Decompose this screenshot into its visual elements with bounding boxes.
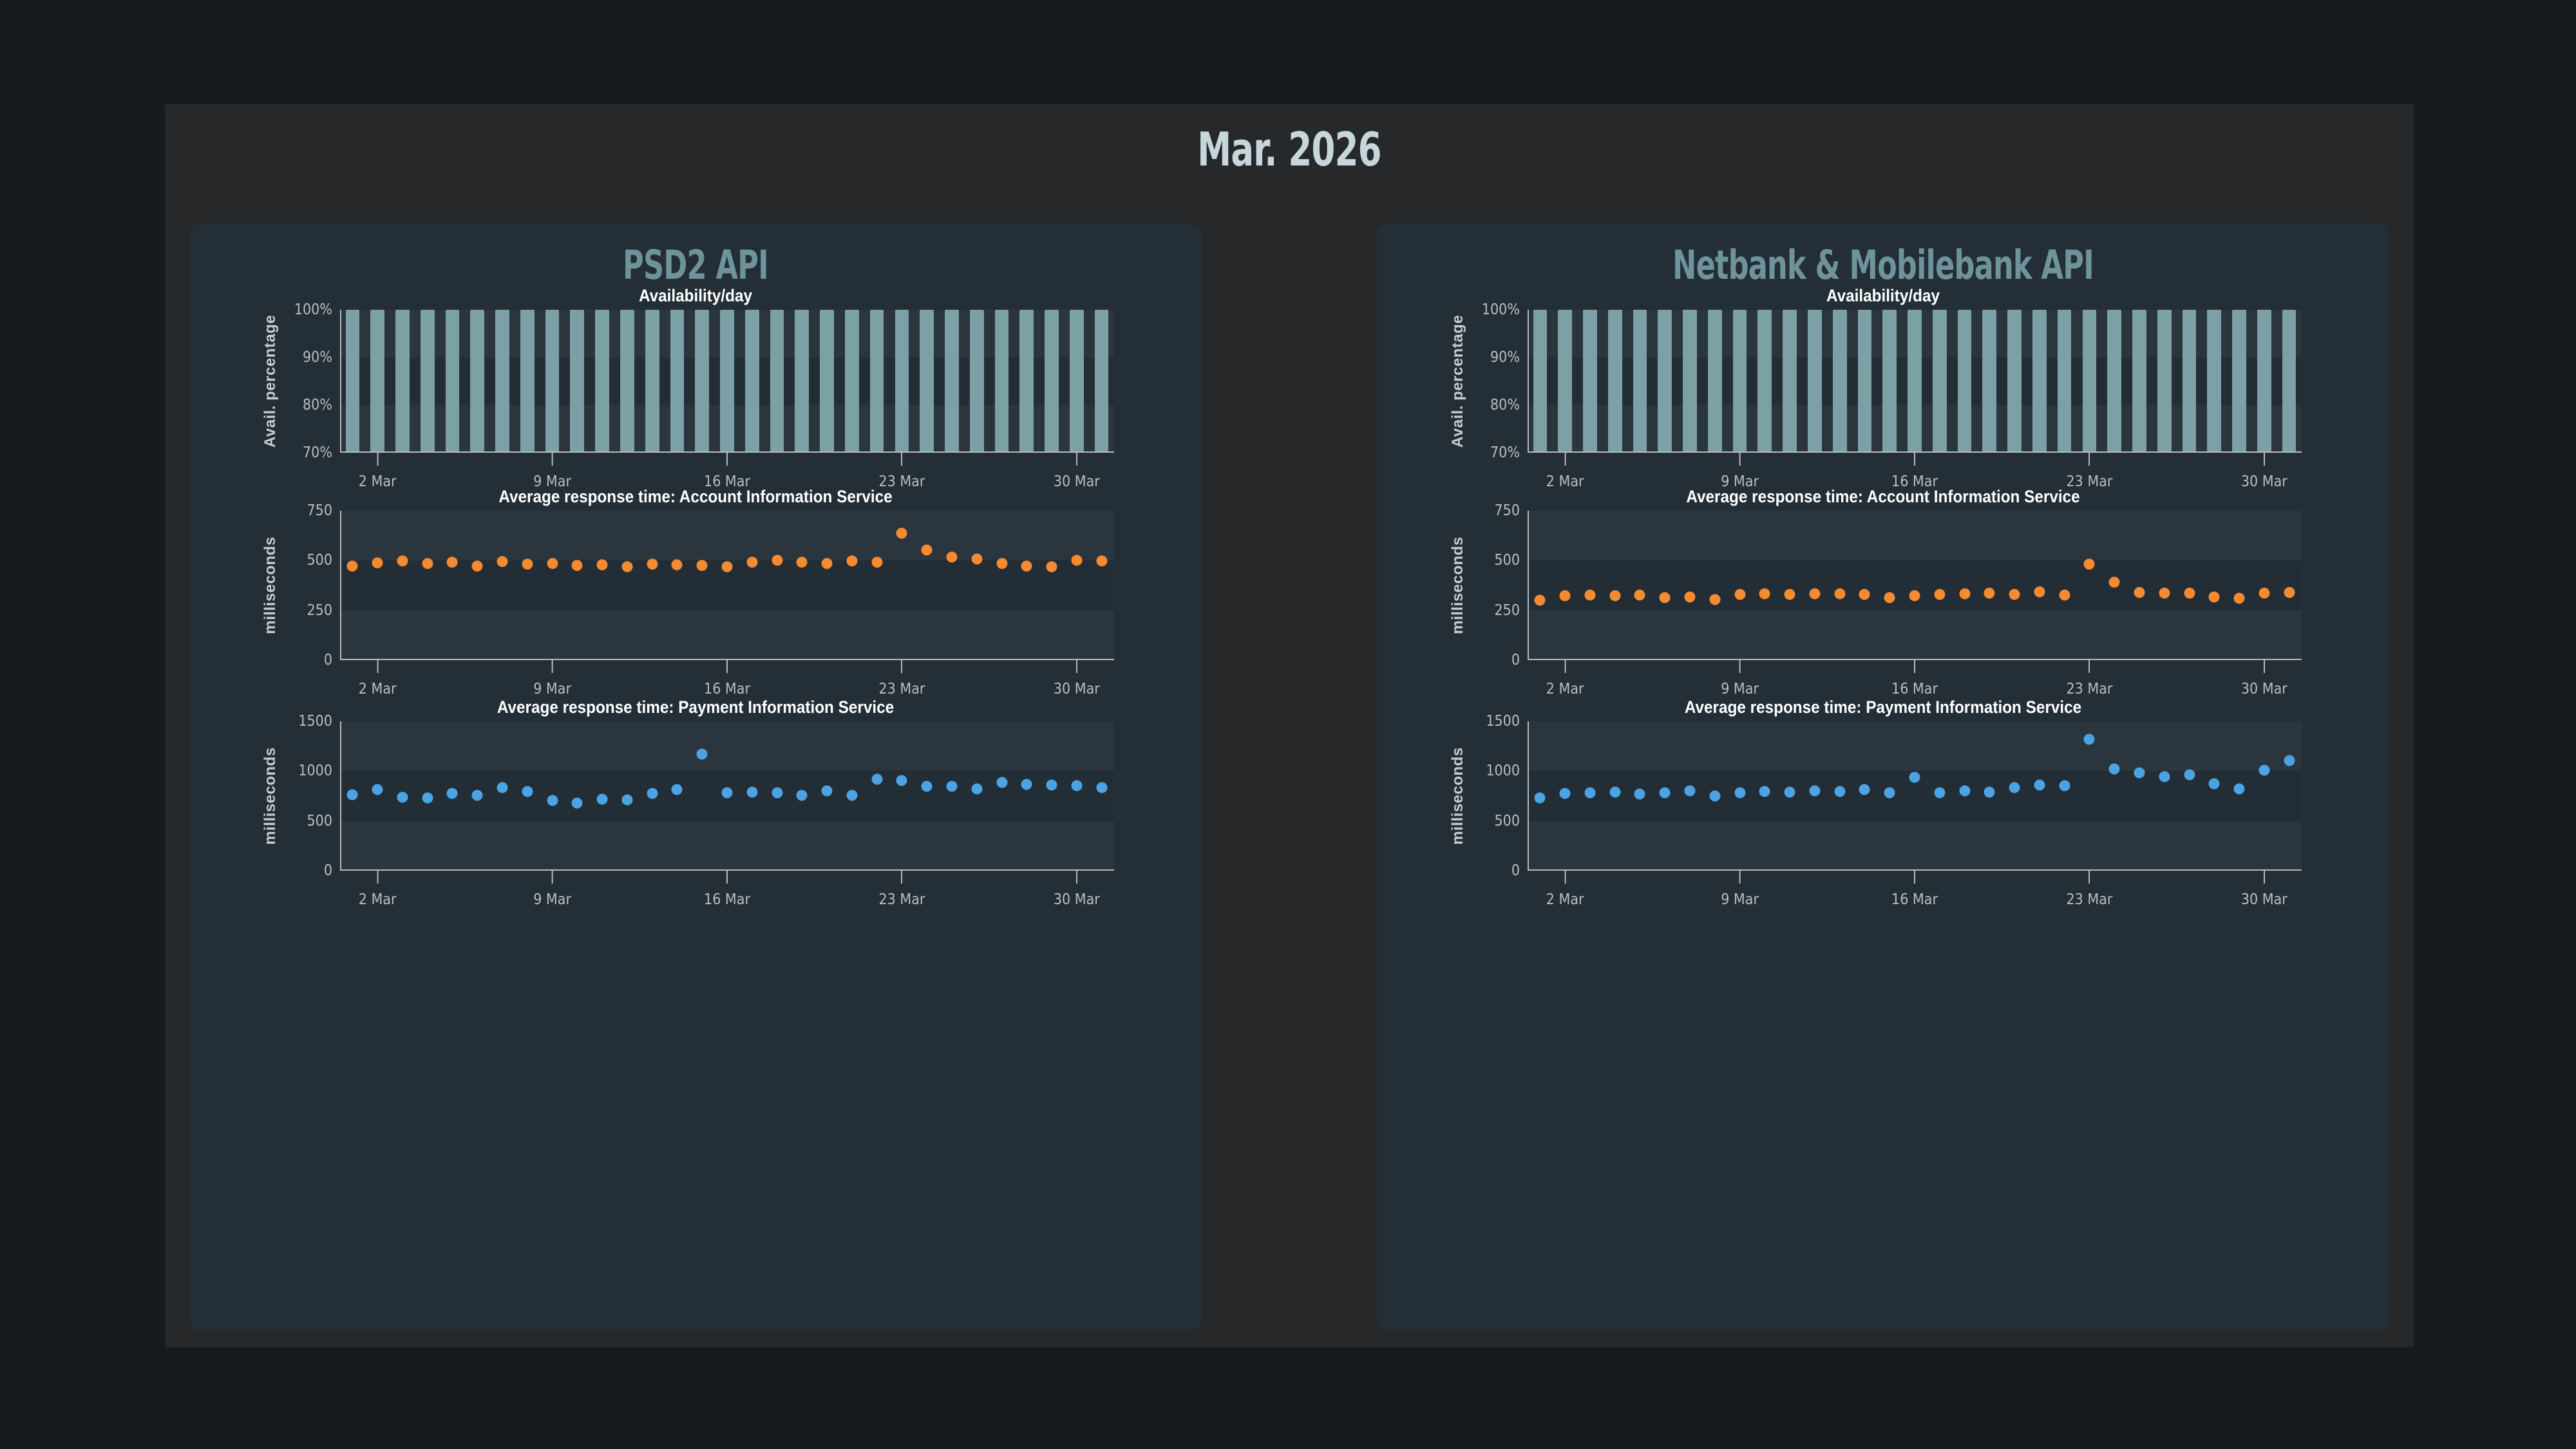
data-point[interactable] [522, 559, 533, 570]
x-tick: 16 Mar [1891, 871, 1938, 908]
x-tick-mark [2088, 871, 2090, 884]
x-tick-mark [2088, 453, 2090, 466]
x-tick-mark [1076, 871, 1077, 884]
data-point[interactable] [572, 797, 583, 808]
chart-netbank-availability: Availability/day Avail. percentage70%80%… [1377, 286, 2389, 487]
data-point[interactable] [1071, 554, 1082, 565]
data-point[interactable] [447, 556, 458, 567]
data-point[interactable] [1809, 589, 1820, 600]
data-point[interactable] [772, 787, 782, 798]
data-point[interactable] [822, 558, 833, 569]
plot-band [340, 821, 1114, 871]
data-point[interactable] [621, 794, 632, 805]
data-point[interactable] [996, 777, 1007, 788]
data-point[interactable] [672, 784, 683, 795]
x-tick-label: 16 Mar [704, 681, 750, 697]
chart-psd2-pis: Average response time: Payment Informati… [189, 697, 1202, 908]
data-point[interactable] [1734, 589, 1745, 600]
bar[interactable] [1683, 310, 1697, 453]
bar[interactable] [1608, 310, 1622, 453]
x-tick: 23 Mar [2066, 871, 2112, 908]
data-point[interactable] [1584, 787, 1595, 798]
data-point[interactable] [697, 749, 708, 760]
bar[interactable] [1982, 310, 1996, 453]
x-tick: 16 Mar [704, 453, 750, 490]
data-point[interactable] [1759, 588, 1770, 599]
bar[interactable] [346, 310, 360, 453]
data-point[interactable] [2284, 587, 2295, 598]
y-tick-label: 80% [303, 397, 332, 413]
bar[interactable] [495, 310, 509, 453]
x-tick: 23 Mar [878, 660, 925, 697]
x-tick-mark [377, 871, 378, 884]
data-point[interactable] [1759, 786, 1770, 797]
x-tick-mark [1914, 871, 1915, 884]
data-point[interactable] [2084, 734, 2095, 744]
chart-body-netbank-ais[interactable]: milliseconds02505007502 Mar9 Mar16 Mar23… [1432, 511, 2334, 697]
data-point[interactable] [372, 558, 383, 569]
y-axis-label: milliseconds [1449, 536, 1467, 634]
data-point[interactable] [2009, 589, 2020, 600]
data-point[interactable] [746, 786, 757, 797]
data-point[interactable] [797, 790, 808, 800]
x-tick: 2 Mar [1546, 660, 1584, 697]
y-tick-label: 500 [307, 813, 333, 829]
data-point[interactable] [422, 558, 433, 569]
x-tick: 16 Mar [704, 871, 750, 908]
x-tick-mark [1914, 453, 1915, 466]
data-point[interactable] [1785, 589, 1795, 600]
bar[interactable] [1858, 310, 1872, 453]
bar[interactable] [2083, 310, 2097, 453]
data-point[interactable] [1909, 590, 1920, 601]
x-tick-label: 16 Mar [1891, 891, 1938, 908]
data-point[interactable] [922, 545, 933, 556]
data-point[interactable] [846, 790, 857, 801]
y-axis-label: milliseconds [1449, 747, 1467, 844]
data-point[interactable] [946, 552, 957, 563]
chart-body-netbank-pis[interactable]: milliseconds0500100015002 Mar9 Mar16 Mar… [1432, 721, 2334, 908]
bar[interactable] [945, 310, 959, 453]
x-tick-label: 2 Mar [359, 891, 397, 908]
y-axis-label: milliseconds [261, 536, 279, 634]
data-point[interactable] [522, 786, 533, 797]
x-tick-mark [726, 871, 728, 884]
y-axis-label: Avail. percentage [261, 315, 279, 448]
bar[interactable] [446, 310, 460, 453]
data-point[interactable] [2209, 591, 2220, 602]
data-point[interactable] [2009, 782, 2020, 793]
bar[interactable] [545, 310, 560, 453]
data-point[interactable] [2134, 587, 2145, 598]
y-axis-line [1528, 310, 1529, 453]
data-point[interactable] [1021, 779, 1032, 790]
data-point[interactable] [372, 784, 383, 795]
data-point[interactable] [597, 793, 608, 804]
data-point[interactable] [647, 788, 658, 799]
y-tick-label: 90% [1490, 349, 1520, 366]
bar[interactable] [2007, 310, 2022, 453]
data-point[interactable] [2059, 780, 2070, 791]
bar[interactable] [670, 310, 685, 453]
bar[interactable] [1757, 310, 1772, 453]
bar[interactable] [395, 310, 410, 453]
y-tick-label: 90% [303, 349, 332, 366]
x-tick-mark [1564, 453, 1566, 466]
data-point[interactable] [1660, 788, 1671, 799]
data-point[interactable] [971, 784, 982, 795]
y-tick-label: 1500 [1486, 713, 1520, 730]
data-point[interactable] [822, 785, 833, 796]
data-point[interactable] [697, 560, 708, 571]
data-point[interactable] [1609, 590, 1620, 601]
plot-area[interactable] [340, 511, 1114, 660]
data-point[interactable] [1734, 787, 1745, 798]
bar[interactable] [645, 310, 659, 453]
bar[interactable] [421, 310, 435, 453]
data-point[interactable] [1934, 589, 1945, 600]
x-tick-label: 16 Mar [1891, 681, 1938, 697]
bar[interactable] [1658, 310, 1672, 453]
bar[interactable] [520, 310, 535, 453]
data-point[interactable] [597, 560, 608, 571]
data-point[interactable] [896, 775, 907, 786]
data-point[interactable] [1584, 589, 1595, 600]
y-tick-label: 0 [324, 652, 332, 668]
data-point[interactable] [497, 556, 508, 567]
data-point[interactable] [1909, 772, 1920, 782]
data-point[interactable] [1535, 793, 1546, 804]
data-point[interactable] [547, 558, 558, 569]
data-point[interactable] [472, 560, 483, 571]
bar[interactable] [1783, 310, 1797, 453]
bar[interactable] [1558, 310, 1572, 453]
data-point[interactable] [2259, 587, 2269, 598]
data-point[interactable] [1096, 782, 1107, 793]
api-panel-psd2: PSD2 API Availability/day Avail. percent… [189, 223, 1202, 1331]
data-point[interactable] [1859, 589, 1870, 600]
data-point[interactable] [2234, 783, 2245, 794]
chart-title-ais: Average response time: Account Informati… [1428, 487, 2339, 507]
data-point[interactable] [621, 561, 632, 572]
bar[interactable] [470, 310, 484, 453]
data-point[interactable] [2109, 577, 2120, 588]
data-point[interactable] [1834, 786, 1845, 797]
data-point[interactable] [397, 556, 408, 567]
y-tick-label: 500 [307, 552, 333, 569]
data-point[interactable] [2084, 558, 2095, 569]
y-tick-label: 0 [1511, 652, 1520, 668]
x-tick: 2 Mar [359, 660, 397, 697]
y-axis-ticks: 050010001500 [1468, 721, 1526, 871]
data-point[interactable] [871, 773, 882, 784]
data-point[interactable] [2209, 778, 2220, 789]
data-point[interactable] [1959, 588, 1970, 599]
x-tick: 9 Mar [1721, 660, 1759, 697]
data-point[interactable] [871, 557, 882, 568]
data-point[interactable] [547, 795, 558, 806]
bar[interactable] [1045, 310, 1059, 453]
bar[interactable] [1019, 310, 1034, 453]
data-point[interactable] [2284, 755, 2295, 766]
y-axis-ticks: 050010001500 [281, 721, 339, 871]
plot-band [340, 721, 1114, 771]
plot-area[interactable] [340, 721, 1114, 871]
bar[interactable] [595, 310, 609, 453]
data-point[interactable] [1785, 786, 1795, 797]
data-point[interactable] [1560, 590, 1571, 601]
y-tick-label: 100% [1482, 301, 1520, 318]
data-point[interactable] [1660, 592, 1671, 603]
x-tick-mark [1739, 453, 1741, 466]
data-point[interactable] [1046, 780, 1057, 791]
bar[interactable] [1095, 310, 1109, 453]
bar[interactable] [2157, 310, 2172, 453]
data-point[interactable] [672, 560, 683, 571]
x-tick-mark [2264, 453, 2265, 466]
bar[interactable] [1583, 310, 1597, 453]
chart-body-psd2-ais[interactable]: milliseconds02505007502 Mar9 Mar16 Mar23… [245, 511, 1146, 697]
y-tick-label: 250 [307, 602, 333, 619]
data-point[interactable] [946, 781, 957, 791]
x-tick-label: 30 Mar [1054, 681, 1100, 697]
bar[interactable] [1833, 310, 1847, 453]
data-point[interactable] [1096, 556, 1107, 567]
bar[interactable] [2132, 310, 2146, 453]
data-point[interactable] [722, 561, 733, 572]
chart-title-pis: Average response time: Payment Informati… [1428, 697, 2339, 717]
data-point[interactable] [1046, 561, 1057, 572]
data-point[interactable] [1934, 787, 1945, 798]
data-point[interactable] [746, 556, 757, 567]
bar[interactable] [1808, 310, 1822, 453]
data-point[interactable] [347, 789, 358, 800]
data-point[interactable] [497, 782, 508, 793]
x-tick-label: 9 Mar [1721, 681, 1759, 697]
data-point[interactable] [2109, 764, 2120, 775]
api-panel-netbank: Netbank & Mobilebank API Availability/da… [1377, 223, 2389, 1331]
data-point[interactable] [572, 560, 583, 571]
x-tick-label: 30 Mar [2241, 681, 2287, 697]
data-point[interactable] [1685, 786, 1696, 797]
data-point[interactable] [1021, 560, 1032, 571]
data-point[interactable] [2184, 769, 2195, 780]
data-point[interactable] [472, 790, 483, 801]
data-point[interactable] [2234, 593, 2245, 604]
data-point[interactable] [2059, 589, 2070, 600]
x-tick-mark [1564, 660, 1566, 673]
x-tick-mark [552, 660, 553, 673]
data-point[interactable] [1560, 788, 1571, 799]
bar[interactable] [745, 310, 759, 453]
y-axis-line [1528, 511, 1529, 660]
data-point[interactable] [2034, 586, 2045, 597]
bar[interactable] [620, 310, 634, 453]
bar[interactable] [2183, 310, 2197, 453]
data-point[interactable] [1984, 786, 1995, 797]
x-tick: 30 Mar [1054, 453, 1100, 490]
panel-title-netbank: Netbank & Mobilebank API [1478, 235, 2288, 286]
x-tick: 16 Mar [704, 660, 750, 697]
bar[interactable] [995, 310, 1009, 453]
x-tick-label: 23 Mar [2066, 891, 2112, 908]
data-point[interactable] [397, 792, 408, 803]
data-point[interactable] [1984, 587, 1995, 598]
x-tick-label: 30 Mar [2241, 891, 2287, 908]
bar[interactable] [1733, 310, 1747, 453]
data-point[interactable] [1959, 786, 1970, 797]
panels-row: PSD2 API Availability/day Avail. percent… [165, 223, 2414, 1347]
x-tick-label: 2 Mar [1546, 891, 1584, 908]
x-tick-mark [1076, 453, 1077, 466]
data-point[interactable] [797, 557, 808, 568]
x-tick-mark [2088, 660, 2090, 673]
x-tick-mark [901, 660, 902, 673]
data-point[interactable] [1884, 592, 1895, 603]
x-tick: 30 Mar [2241, 453, 2287, 490]
bar[interactable] [1533, 310, 1548, 453]
data-point[interactable] [1535, 594, 1546, 605]
data-point[interactable] [647, 559, 658, 570]
y-axis-label: milliseconds [261, 747, 279, 844]
bar[interactable] [2032, 310, 2047, 453]
y-tick-label: 1000 [1486, 762, 1520, 779]
plot-area[interactable] [1528, 511, 2302, 660]
data-point[interactable] [1884, 788, 1895, 799]
bar[interactable] [2257, 310, 2271, 453]
chart-title-availability: Availability/day [1428, 286, 2339, 306]
bar[interactable] [820, 310, 834, 453]
bar[interactable] [770, 310, 784, 453]
data-point[interactable] [1634, 589, 1645, 600]
data-point[interactable] [447, 788, 458, 799]
x-tick: 9 Mar [533, 871, 571, 908]
x-tick-label: 9 Mar [1721, 891, 1759, 908]
data-point[interactable] [422, 793, 433, 804]
x-tick-mark [726, 453, 728, 466]
bar[interactable] [920, 310, 934, 453]
x-tick-label: 16 Mar [704, 891, 750, 908]
x-tick: 30 Mar [2241, 660, 2287, 697]
x-tick-label: 30 Mar [1054, 891, 1100, 908]
bar[interactable] [1933, 310, 1947, 453]
plot-band [1528, 821, 2302, 871]
chart-body-psd2-availability[interactable]: Avail. percentage70%80%90%100%2 Mar9 Mar… [245, 310, 1146, 487]
data-point[interactable] [896, 527, 907, 538]
bar[interactable] [2058, 310, 2072, 453]
data-point[interactable] [1834, 589, 1845, 600]
dashboard-container: Mar. 2026 PSD2 API Availability/day Avai… [165, 104, 2414, 1347]
data-point[interactable] [971, 554, 982, 565]
data-point[interactable] [996, 558, 1007, 569]
y-tick-label: 500 [1495, 813, 1520, 829]
y-tick-label: 750 [1495, 502, 1520, 519]
bar[interactable] [2107, 310, 2121, 453]
data-point[interactable] [1634, 789, 1645, 800]
plot-area[interactable] [1528, 721, 2302, 871]
bar[interactable] [1908, 310, 1922, 453]
x-tick: 23 Mar [878, 453, 925, 490]
bar[interactable] [895, 310, 909, 453]
bar[interactable] [2282, 310, 2297, 453]
data-point[interactable] [722, 788, 733, 799]
y-tick-label: 500 [1495, 552, 1520, 569]
bar[interactable] [2207, 310, 2221, 453]
chart-title-availability: Availability/day [240, 286, 1151, 306]
data-point[interactable] [1685, 591, 1696, 602]
bar[interactable] [970, 310, 984, 453]
bar[interactable] [2232, 310, 2246, 453]
data-point[interactable] [2159, 588, 2170, 599]
data-point[interactable] [1709, 791, 1720, 802]
data-point[interactable] [2134, 767, 2145, 778]
x-tick-mark [1076, 660, 1077, 673]
data-point[interactable] [922, 781, 933, 792]
chart-psd2-ais: Average response time: Account Informati… [189, 487, 1202, 697]
bar[interactable] [695, 310, 709, 453]
panel-title-psd2: PSD2 API [290, 235, 1101, 286]
x-tick: 23 Mar [878, 871, 925, 908]
data-point[interactable] [347, 560, 358, 571]
y-axis-ticks: 0250500750 [1468, 511, 1526, 660]
data-point[interactable] [2034, 780, 2045, 791]
bar[interactable] [1958, 310, 1972, 453]
data-point[interactable] [1809, 785, 1820, 796]
data-point[interactable] [1609, 786, 1620, 797]
data-point[interactable] [2184, 587, 2195, 598]
data-point[interactable] [2159, 771, 2170, 782]
data-point[interactable] [772, 554, 782, 565]
y-axis-ticks: 70%80%90%100% [281, 310, 339, 453]
x-tick: 2 Mar [359, 871, 397, 908]
y-axis-line [340, 511, 341, 660]
y-tick-label: 250 [1495, 602, 1520, 619]
plot-area[interactable] [340, 310, 1114, 453]
x-tick: 23 Mar [2066, 453, 2112, 490]
bar[interactable] [720, 310, 734, 453]
bar[interactable] [870, 310, 884, 453]
y-tick-label: 0 [1511, 862, 1520, 879]
bar[interactable] [1633, 310, 1647, 453]
x-tick: 9 Mar [1721, 871, 1759, 908]
chart-body-psd2-pis[interactable]: milliseconds0500100015002 Mar9 Mar16 Mar… [245, 721, 1146, 908]
bar[interactable] [845, 310, 859, 453]
bar[interactable] [370, 310, 384, 453]
bar[interactable] [795, 310, 809, 453]
bar[interactable] [570, 310, 584, 453]
x-tick-mark [901, 871, 902, 884]
x-tick: 30 Mar [2241, 871, 2287, 908]
bar[interactable] [1708, 310, 1722, 453]
data-point[interactable] [1071, 780, 1082, 791]
plot-area[interactable] [1528, 310, 2302, 453]
chart-body-netbank-availability[interactable]: Avail. percentage70%80%90%100%2 Mar9 Mar… [1432, 310, 2334, 487]
x-tick-mark [1739, 871, 1741, 884]
data-point[interactable] [2259, 764, 2269, 775]
y-tick-label: 1000 [298, 762, 332, 779]
y-tick-label: 100% [294, 301, 332, 318]
y-axis-line [340, 721, 341, 871]
x-tick-label: 23 Mar [878, 681, 925, 697]
x-tick-mark [726, 660, 728, 673]
bar[interactable] [1070, 310, 1084, 453]
bar[interactable] [1882, 310, 1897, 453]
data-point[interactable] [1859, 784, 1870, 795]
data-point[interactable] [1709, 594, 1720, 605]
plot-band [1528, 511, 2302, 560]
data-point[interactable] [846, 556, 857, 567]
chart-title-ais: Average response time: Account Informati… [240, 487, 1151, 507]
